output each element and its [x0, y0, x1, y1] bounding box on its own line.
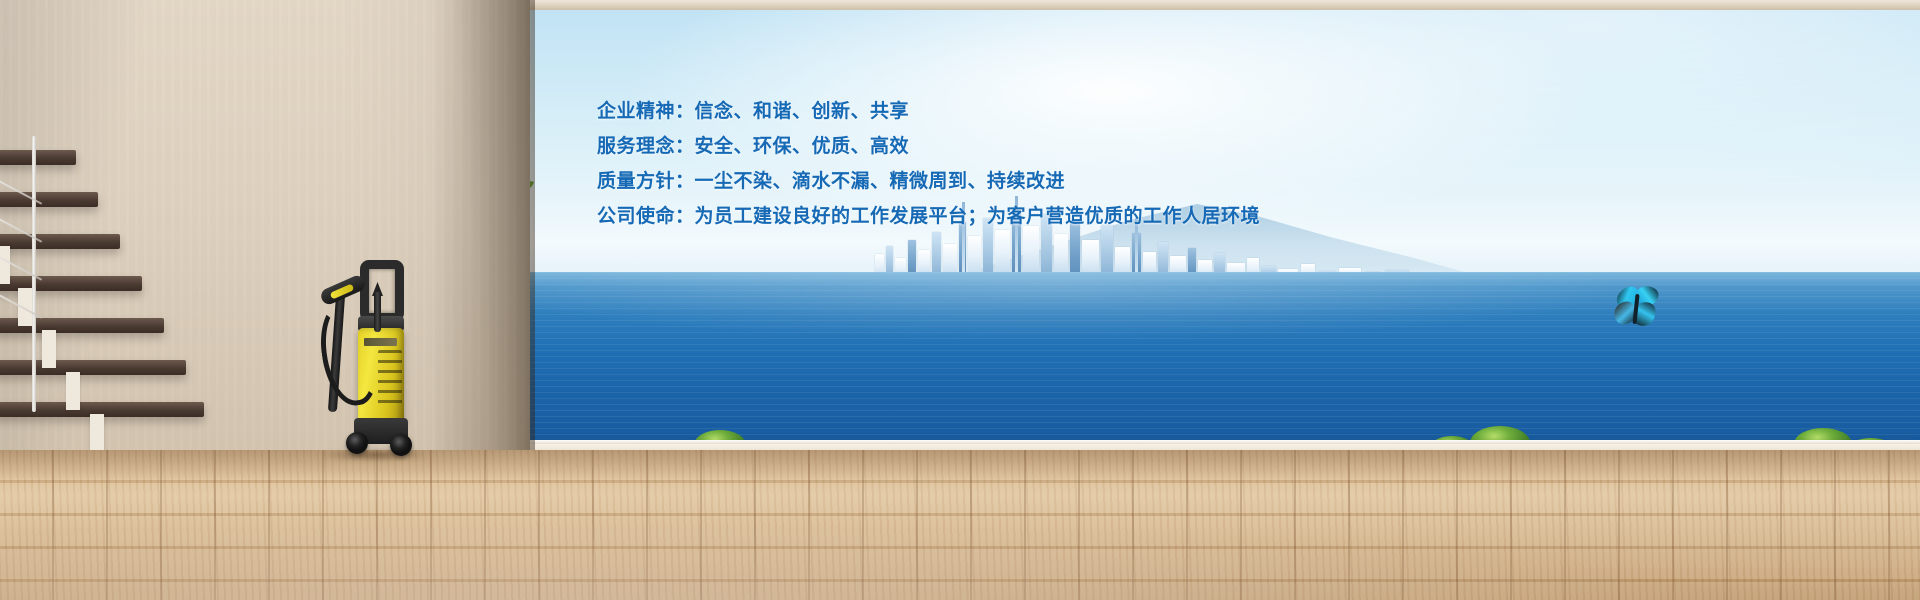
culture-line-spirit: 企业精神：信念、和谐、创新、共享: [597, 94, 1357, 129]
culture-line-quality: 质量方针：一尘不染、滴水不漏、精微周到、持续改进: [597, 164, 1357, 199]
culture-line-service: 服务理念：安全、环保、优质、高效: [597, 129, 1357, 164]
wood-floor-sheen: [0, 450, 1920, 600]
machine-wheel: [390, 434, 412, 456]
window-frame-top: [418, 0, 1920, 10]
pressure-washer: [316, 258, 424, 458]
banner-stage: 企业精神：信念、和谐、创新、共享 服务理念：安全、环保、优质、高效 质量方针：一…: [0, 0, 1920, 600]
wall-shadow: [430, 0, 535, 470]
machine-handle: [360, 260, 404, 322]
butterfly-icon: [1614, 286, 1660, 332]
machine-wheel: [346, 432, 368, 454]
machine-vents: [378, 350, 402, 408]
ocean-sparkle: [418, 272, 1920, 460]
corporate-culture-text: 企业精神：信念、和谐、创新、共享 服务理念：安全、环保、优质、高效 质量方针：一…: [597, 94, 1357, 234]
window-sill-edge: [404, 440, 1920, 444]
machine-nozzle: [374, 292, 381, 332]
staircase: [0, 150, 210, 480]
culture-line-mission: 公司使命：为员工建设良好的工作发展平台；为客户营造优质的工作人居环境: [597, 199, 1357, 234]
